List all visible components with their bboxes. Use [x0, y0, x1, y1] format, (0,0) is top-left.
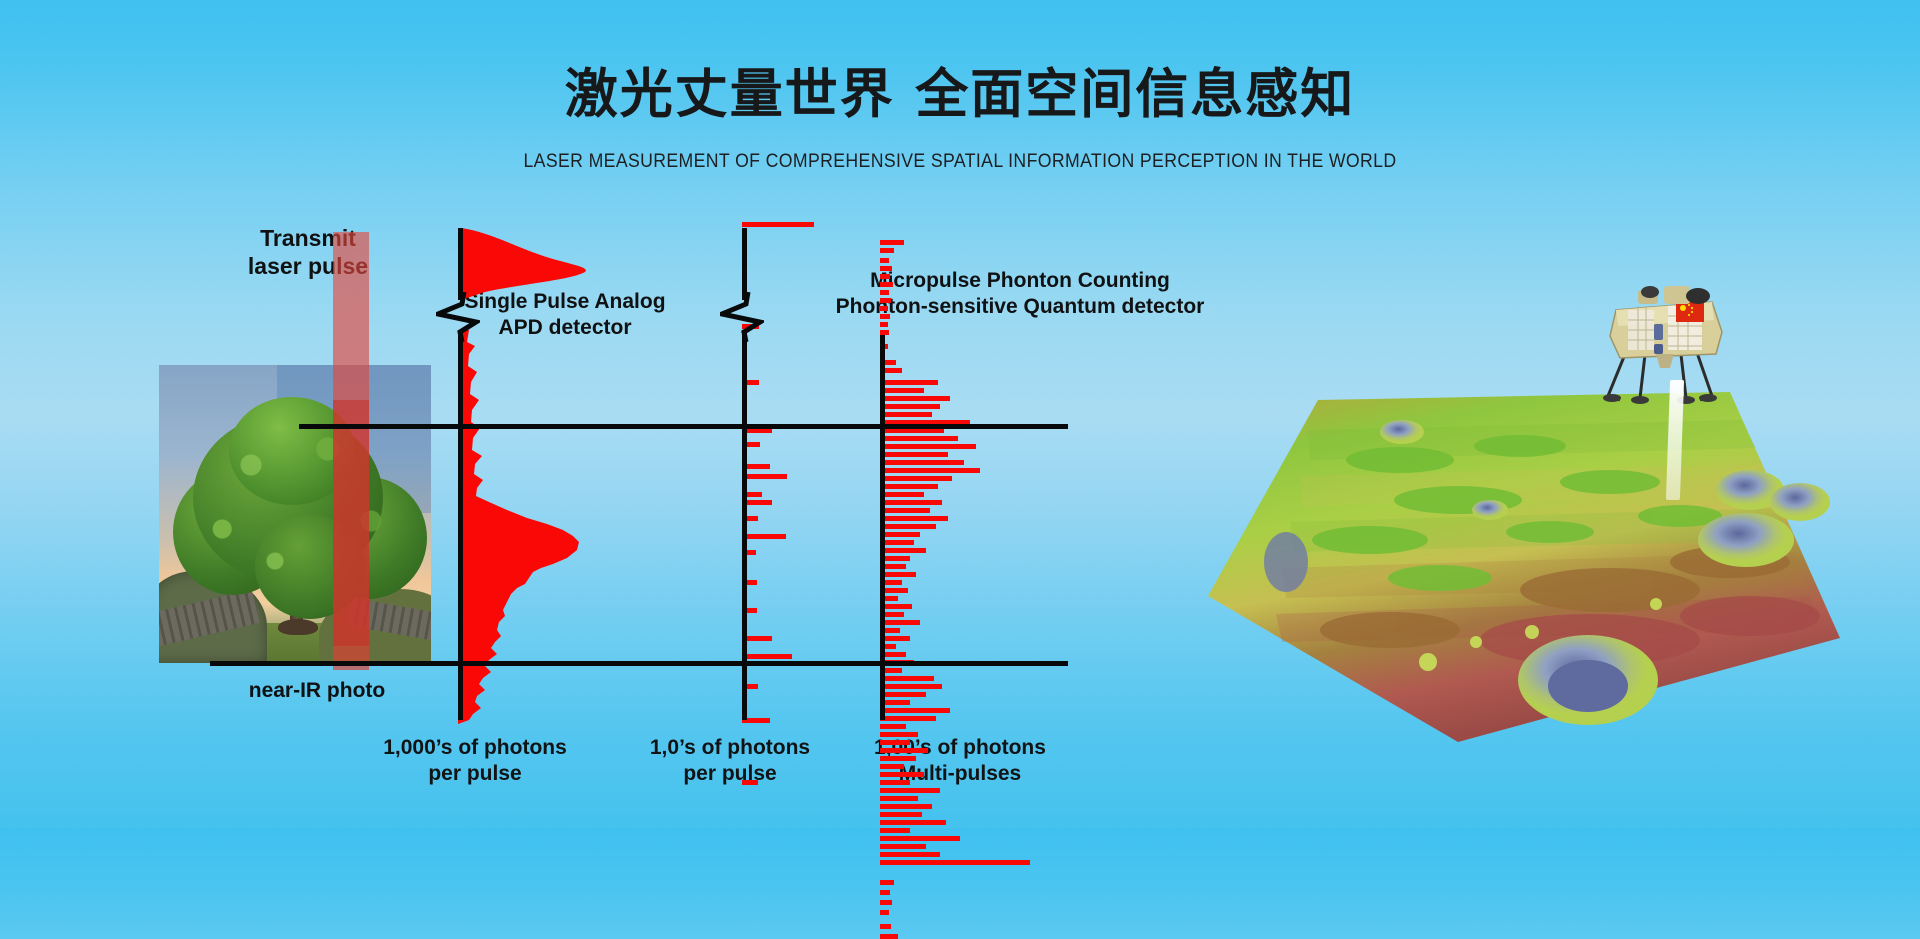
page-title: 激光丈量世界 全面空间信息感知 — [0, 52, 1920, 128]
lunar-lidar-scene — [1190, 280, 1850, 750]
axis-break-icon — [436, 292, 480, 342]
photo-foliage-texture — [179, 405, 419, 605]
laser-beam-foliage-overlay — [333, 400, 369, 646]
poster-stage: 激光丈量世界 全面空间信息感知 LASER MEASUREMENT OF COM… — [0, 0, 1920, 828]
dense-photon-bars — [880, 240, 1090, 730]
ground-reference-line-left — [210, 661, 360, 666]
caption-analog: 1,000’s of photons per pulse — [330, 735, 620, 788]
photo-tree-root — [278, 619, 318, 635]
page-subtitle: LASER MEASUREMENT OF COMPREHENSIVE SPATI… — [67, 151, 1853, 173]
transmit-pulse-label: Transmit laser pulse — [203, 224, 413, 280]
axis-analog-upper — [458, 228, 463, 300]
dem-terrain — [1190, 390, 1850, 750]
near-ir-photo-label: near-IR photo — [182, 678, 452, 704]
caption-single-photon: 1,0’s of photons per pulse — [600, 735, 860, 788]
lunar-lander — [1590, 280, 1740, 410]
axis-break-icon — [720, 292, 764, 342]
caption-multi-pulse: 1,00’s of photons Multi-pulses — [825, 735, 1095, 788]
analog-apd-waveform — [455, 224, 655, 724]
ground-reference-line — [345, 661, 1068, 666]
near-ir-tree-photo — [159, 365, 431, 663]
axis-sparse-upper — [742, 228, 747, 300]
canopy-reference-line — [345, 424, 1068, 429]
